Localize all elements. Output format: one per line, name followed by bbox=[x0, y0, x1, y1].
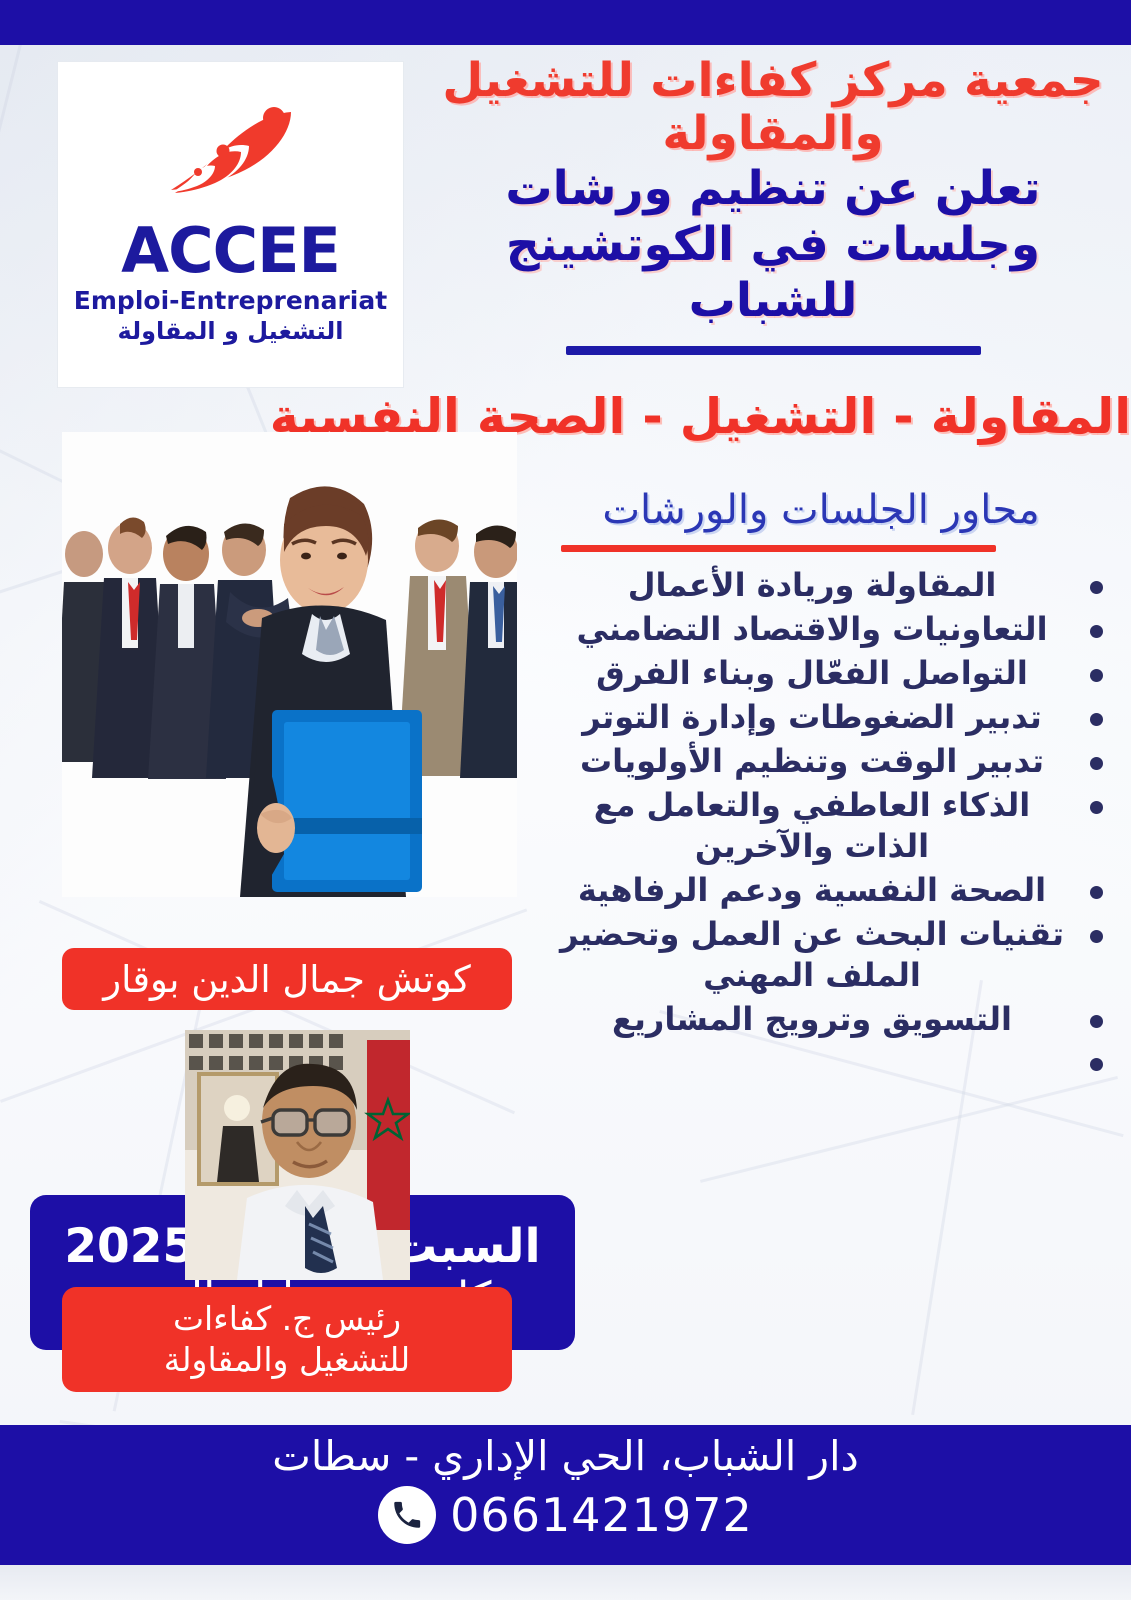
list-item: التواصل الفعّال وبناء الفرق bbox=[553, 653, 1113, 694]
coach-portrait bbox=[185, 1030, 410, 1280]
accee-logo-card: ACCEE Emploi-Entreprenariat التشغيل و ال… bbox=[58, 62, 403, 387]
announce-line-3: للشباب bbox=[423, 274, 1123, 328]
footer-phone-number: 0661421972 bbox=[450, 1488, 753, 1542]
list-item: تقنيات البحث عن العمل وتحضير الملف المهن… bbox=[553, 914, 1113, 996]
logo-tagline-fr: Emploi-Entreprenariat bbox=[74, 286, 387, 315]
footer-phone-row: 0661421972 bbox=[0, 1486, 1131, 1544]
list-item: التعاونيات والاقتصاد التضامني bbox=[553, 609, 1113, 650]
logo-tagline-ar: التشغيل و المقاولة bbox=[118, 317, 344, 345]
announce-line-1: تعلن عن تنظيم ورشات bbox=[423, 162, 1123, 216]
topics-list: المقاولة وريادة الأعمال التعاونيات والاق… bbox=[553, 565, 1113, 1075]
business-team-photo bbox=[62, 432, 517, 897]
list-item: الصحة النفسية ودعم الرفاهية bbox=[553, 870, 1113, 911]
headline-subtitle: محاور الجلسات والورشات bbox=[541, 487, 1101, 533]
list-item: المقاولة وريادة الأعمال bbox=[553, 565, 1113, 606]
logo-acronym: ACCEE bbox=[121, 220, 340, 282]
announce-line-2: وجلسات في الكوتشينج bbox=[423, 218, 1123, 272]
poster-canvas: جمعية مركز كفاءات للتشغيل والمقاولة تعلن… bbox=[0, 0, 1131, 1600]
person-rising-icon bbox=[141, 104, 321, 216]
header-title-block: جمعية مركز كفاءات للتشغيل والمقاولة تعلن… bbox=[423, 55, 1123, 355]
president-line-1: رئيس ج. كفاءات bbox=[173, 1299, 401, 1339]
subtitle-divider bbox=[561, 545, 996, 552]
list-item: تدبير الوقت وتنظيم الأولويات bbox=[553, 741, 1113, 782]
footer-bottom-strip bbox=[0, 1565, 1131, 1600]
list-item: تدبير الضغوطات وإدارة التوتر bbox=[553, 697, 1113, 738]
org-title-line-2: والمقاولة bbox=[423, 108, 1123, 161]
president-title-banner: رئيس ج. كفاءات للتشغيل والمقاولة bbox=[62, 1287, 512, 1392]
list-item: التسويق وترويج المشاريع bbox=[553, 999, 1113, 1040]
org-title-line-1: جمعية مركز كفاءات للتشغيل bbox=[423, 55, 1123, 108]
list-item: الذكاء العاطفي والتعامل مع الذات والآخري… bbox=[553, 785, 1113, 867]
list-item-empty bbox=[553, 1042, 1113, 1072]
coach-name-banner: كوتش جمال الدين بوقار bbox=[62, 948, 512, 1010]
phone-icon bbox=[378, 1486, 436, 1544]
header-divider bbox=[566, 346, 981, 355]
top-accent-bar bbox=[0, 0, 1131, 45]
president-line-2: للتشغيل والمقاولة bbox=[164, 1340, 410, 1380]
coach-name: كوتش جمال الدين بوقار bbox=[103, 958, 471, 1001]
footer-address: دار الشباب، الحي الإداري - سطات bbox=[0, 1432, 1131, 1480]
